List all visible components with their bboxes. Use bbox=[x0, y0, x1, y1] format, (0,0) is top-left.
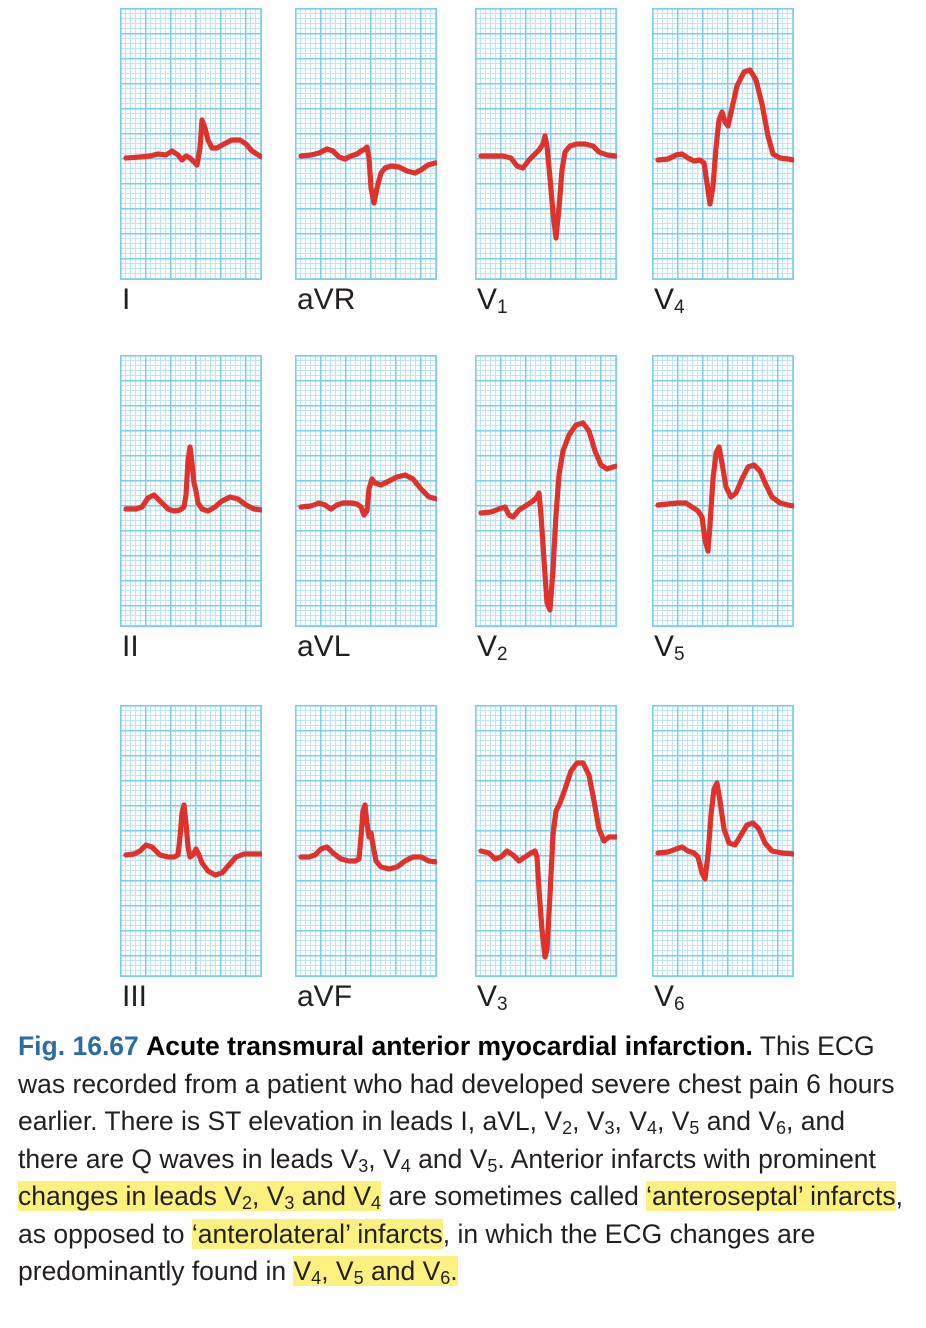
lead-label-aVF: aVF bbox=[297, 981, 352, 1013]
lead-label-main-I: I bbox=[122, 283, 130, 316]
ecg-trace-svg-V1 bbox=[475, 8, 617, 280]
ecg-trace-svg-II bbox=[120, 355, 262, 627]
ecg-waveform-I bbox=[126, 120, 262, 165]
ecg-lead-panel-V1[interactable]: V1 bbox=[475, 8, 617, 280]
lead-ref-subscript: 4 bbox=[371, 1193, 381, 1213]
ecg-figure: I aVR V1 V4 bbox=[0, 0, 926, 1328]
lead-ref-subscript: 4 bbox=[401, 1156, 411, 1176]
lead-label-main-aVF: aVF bbox=[297, 980, 352, 1013]
ecg-lead-panel-V6[interactable]: V6 bbox=[652, 705, 794, 977]
lead-ref-subscript: 5 bbox=[487, 1156, 497, 1176]
lead-label-II: II bbox=[122, 631, 139, 663]
lead-label-V5: V5 bbox=[654, 631, 685, 663]
ecg-lead-panel-aVL[interactable]: aVL bbox=[295, 355, 437, 627]
lead-label-sub-V4: 4 bbox=[674, 297, 685, 318]
lead-label-main-aVR: aVR bbox=[297, 283, 355, 316]
lead-label-main-aVL: aVL bbox=[297, 630, 350, 663]
lead-ref-subscript: 3 bbox=[605, 1118, 615, 1138]
lead-label-main-V4: V bbox=[654, 283, 674, 316]
ecg-waveform-V1 bbox=[481, 136, 617, 238]
ecg-lead-panel-aVF[interactable]: aVF bbox=[295, 705, 437, 977]
ecg-grid-aVL bbox=[295, 355, 437, 627]
lead-label-main-V6: V bbox=[654, 980, 674, 1013]
lead-ref: V3 bbox=[341, 1144, 369, 1174]
lead-label-aVR: aVR bbox=[297, 284, 355, 316]
lead-label-V4: V4 bbox=[654, 284, 685, 316]
ecg-waveform-aVF bbox=[301, 805, 437, 869]
ecg-row-3: III aVF V3 V6 bbox=[0, 705, 926, 1005]
ecg-grid-V3 bbox=[475, 705, 617, 977]
lead-ref: V6 bbox=[758, 1106, 786, 1136]
ecg-grid-V2 bbox=[475, 355, 617, 627]
lead-ref-subscript: 6 bbox=[776, 1118, 786, 1138]
lead-label-V2: V2 bbox=[477, 631, 508, 663]
ecg-grid-aVR bbox=[295, 8, 437, 280]
ecg-trace-svg-V5 bbox=[652, 355, 794, 627]
ecg-trace-svg-V6 bbox=[652, 705, 794, 977]
lead-ref: V6 bbox=[423, 1256, 451, 1286]
lead-ref-subscript: 3 bbox=[284, 1193, 294, 1213]
ecg-waveform-V2 bbox=[481, 423, 617, 610]
lead-ref: V2 bbox=[224, 1181, 252, 1211]
ecg-grid-aVF bbox=[295, 705, 437, 977]
lead-ref-subscript: 2 bbox=[242, 1193, 252, 1213]
lead-label-III: III bbox=[122, 981, 147, 1013]
ecg-lead-panel-V4[interactable]: V4 bbox=[652, 8, 794, 280]
ecg-waveform-V5 bbox=[658, 447, 794, 551]
lead-ref-subscript: 3 bbox=[358, 1156, 368, 1176]
ecg-waveform-aVR bbox=[301, 147, 437, 203]
ecg-grid-V1 bbox=[475, 8, 617, 280]
ecg-trace-svg-V3 bbox=[475, 705, 617, 977]
ecg-trace-svg-V4 bbox=[652, 8, 794, 280]
ecg-grid-V5 bbox=[652, 355, 794, 627]
ecg-trace-svg-III bbox=[120, 705, 262, 977]
lead-label-main-III: III bbox=[122, 980, 147, 1013]
ecg-lead-panel-III[interactable]: III bbox=[120, 705, 262, 977]
ecg-lead-panel-I[interactable]: I bbox=[120, 8, 262, 280]
lead-ref-subscript: 4 bbox=[647, 1118, 657, 1138]
ecg-grid-III bbox=[120, 705, 262, 977]
ecg-lead-panel-V5[interactable]: V5 bbox=[652, 355, 794, 627]
ecg-grid-V6 bbox=[652, 705, 794, 977]
lead-ref: V3 bbox=[267, 1181, 295, 1211]
lead-label-V1: V1 bbox=[477, 284, 508, 316]
ecg-waveform-aVL bbox=[301, 475, 437, 515]
lead-ref: V4 bbox=[629, 1106, 657, 1136]
caption-highlight-6: ‘anteroseptal’ infarcts bbox=[646, 1181, 895, 1211]
caption-figure-title: Acute transmural anterior myocardial inf… bbox=[146, 1031, 753, 1061]
lead-ref: V5 bbox=[470, 1144, 498, 1174]
ecg-trace-svg-aVL bbox=[295, 355, 437, 627]
caption-highlight-4: changes in leads V2, V3 and V4 bbox=[18, 1181, 381, 1211]
ecg-row-2: II aVL V2 V5 bbox=[0, 355, 926, 655]
lead-ref-subscript: 6 bbox=[440, 1268, 450, 1288]
lead-label-sub-V6: 6 bbox=[674, 994, 685, 1015]
lead-ref: V4 bbox=[383, 1144, 411, 1174]
lead-label-sub-V2: 2 bbox=[497, 644, 508, 665]
lead-ref-subscript: 2 bbox=[562, 1118, 572, 1138]
ecg-grid-V4 bbox=[652, 8, 794, 280]
lead-label-sub-V5: 5 bbox=[674, 644, 685, 665]
lead-label-sub-V3: 3 bbox=[497, 994, 508, 1015]
ecg-waveform-III bbox=[126, 805, 262, 875]
ecg-grid-II bbox=[120, 355, 262, 627]
lead-label-I: I bbox=[122, 284, 130, 316]
ecg-waveform-V6 bbox=[658, 783, 794, 879]
ecg-lead-panel-V3[interactable]: V3 bbox=[475, 705, 617, 977]
lead-label-aVL: aVL bbox=[297, 631, 350, 663]
ecg-grid-I bbox=[120, 8, 262, 280]
ecg-waveform-V4 bbox=[658, 70, 794, 204]
lead-ref-subscript: 4 bbox=[311, 1268, 321, 1288]
ecg-lead-panel-V2[interactable]: V2 bbox=[475, 355, 617, 627]
lead-label-main-V5: V bbox=[654, 630, 674, 663]
lead-label-main-V2: V bbox=[477, 630, 497, 663]
caption-figure-number: Fig. 16.67 bbox=[18, 1031, 139, 1061]
ecg-lead-panel-aVR[interactable]: aVR bbox=[295, 8, 437, 280]
ecg-trace-svg-V2 bbox=[475, 355, 617, 627]
lead-label-V3: V3 bbox=[477, 981, 508, 1013]
lead-label-V6: V6 bbox=[654, 981, 685, 1013]
lead-label-main-V1: V bbox=[477, 283, 497, 316]
ecg-row-1: I aVR V1 V4 bbox=[0, 8, 926, 308]
lead-ref-subscript: 5 bbox=[354, 1268, 364, 1288]
figure-caption: Fig. 16.67 Acute transmural anterior myo… bbox=[18, 1028, 908, 1291]
ecg-trace-svg-I bbox=[120, 8, 262, 280]
lead-ref: V5 bbox=[672, 1106, 700, 1136]
caption-text-5: are sometimes called bbox=[381, 1181, 646, 1211]
ecg-trace-svg-aVR bbox=[295, 8, 437, 280]
ecg-lead-panel-II[interactable]: II bbox=[120, 355, 262, 627]
ecg-waveform-V3 bbox=[481, 763, 617, 957]
lead-label-main-II: II bbox=[122, 630, 139, 663]
ecg-waveform-II bbox=[126, 447, 262, 511]
lead-ref: V5 bbox=[336, 1256, 364, 1286]
lead-ref: V4 bbox=[353, 1181, 381, 1211]
lead-ref: V4 bbox=[293, 1256, 321, 1286]
lead-ref-subscript: 5 bbox=[689, 1118, 699, 1138]
lead-label-sub-V1: 1 bbox=[497, 297, 508, 318]
lead-ref: V3 bbox=[587, 1106, 615, 1136]
caption-highlight-8: ‘anterolateral’ infarcts bbox=[192, 1219, 443, 1249]
lead-label-main-V3: V bbox=[477, 980, 497, 1013]
caption-highlight-10: V4, V5 and V6. bbox=[293, 1256, 457, 1286]
lead-ref: V2 bbox=[544, 1106, 572, 1136]
ecg-trace-svg-aVF bbox=[295, 705, 437, 977]
